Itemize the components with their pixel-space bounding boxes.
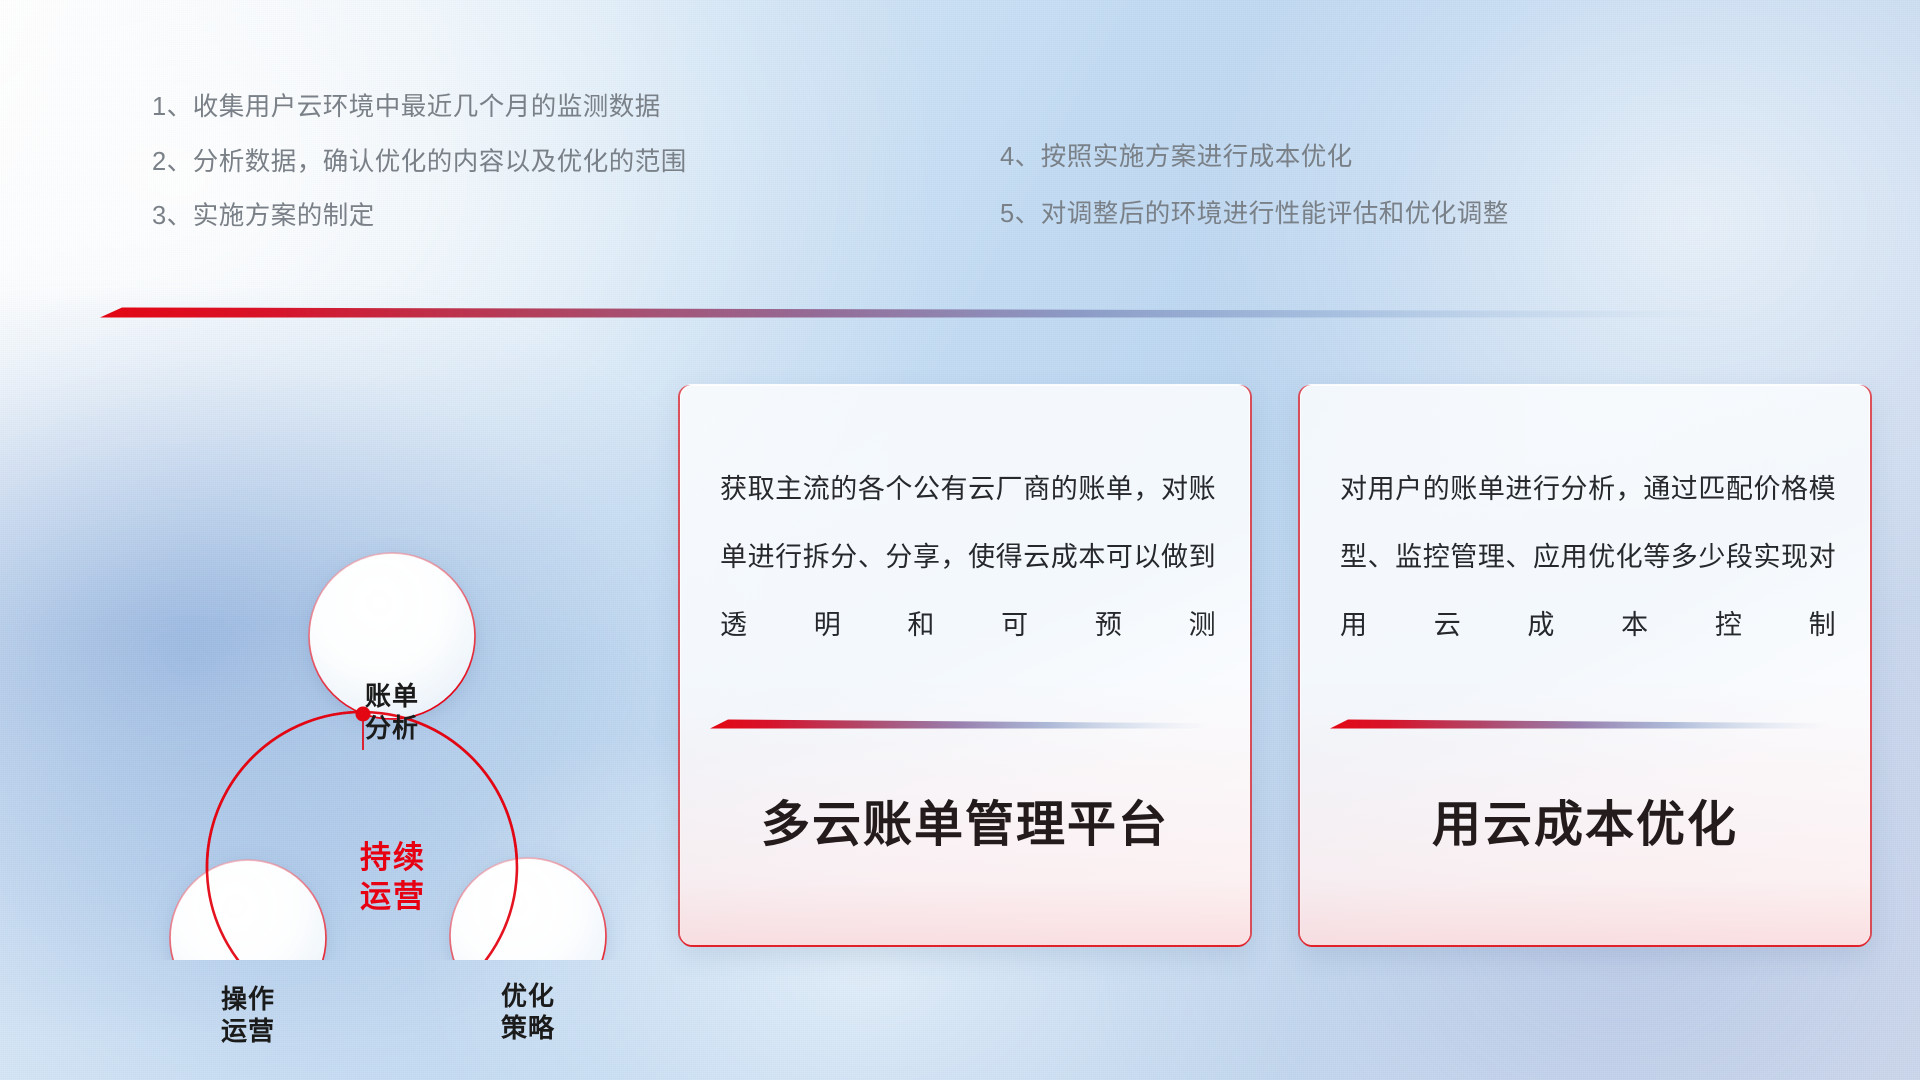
list-item: 3、 实施方案的制定 xyxy=(152,204,852,230)
list-item: 1、 收集用户云环境中最近几个月的监测数据 xyxy=(152,95,852,121)
list-item-number: 3、 xyxy=(152,204,193,230)
list-item: 5、 对调整后的环境进行性能评估和优化调整 xyxy=(1000,202,1740,228)
card-body-text: 获取主流的各个公有云厂商的账单，对账单进行拆分、分享，使得云成本可以做到透明和可… xyxy=(720,455,1216,659)
tapered-rule xyxy=(710,715,1210,729)
node-circle-strategy xyxy=(450,858,606,960)
node-label-operations: 操作 运营 xyxy=(183,984,313,1047)
node-label-line-1: 优化 xyxy=(463,981,593,1013)
tapered-rule xyxy=(1330,715,1830,729)
list-item: 2、 分析数据，确认优化的内容以及优化的范围 xyxy=(152,150,852,176)
node-label-line-2: 策略 xyxy=(463,1013,593,1045)
list-item: 4、 按照实施方案进行成本优化 xyxy=(1000,145,1740,171)
card-title: 用云成本优化 xyxy=(1300,785,1870,856)
process-steps-left-column: 1、 收集用户云环境中最近几个月的监测数据 2、 分析数据，确认优化的内容以及优… xyxy=(152,95,852,259)
list-item-text: 收集用户云环境中最近几个月的监测数据 xyxy=(193,95,661,121)
list-item-text: 按照实施方案进行成本优化 xyxy=(1041,145,1353,171)
list-item-number: 2、 xyxy=(152,150,193,176)
list-item-number: 1、 xyxy=(152,95,193,121)
feature-card-multi-cloud-billing-platform[interactable]: 获取主流的各个公有云厂商的账单，对账单进行拆分、分享，使得云成本可以做到透明和可… xyxy=(680,385,1250,945)
card-title: 多云账单管理平台 xyxy=(680,785,1250,856)
feature-card-cloud-cost-optimization[interactable]: 对用户的账单进行分析，通过匹配价格模型、监控管理、应用优化等多少段实现对用云成本… xyxy=(1300,385,1870,945)
continuous-operation-diagram: 账单 分析 操作 运营 优化 策略 持续 运营 xyxy=(80,350,640,960)
section-divider xyxy=(100,302,1740,318)
list-item-number: 4、 xyxy=(1000,145,1041,171)
diagram-center-label: 持续 运营 xyxy=(318,839,468,917)
node-circle-operations xyxy=(170,860,326,960)
diagram-center-label-line-2: 运营 xyxy=(318,878,468,917)
node-circle-bill-analysis xyxy=(309,553,475,719)
connector-dot-top xyxy=(356,707,371,722)
node-label-line-1: 操作 xyxy=(183,984,313,1016)
list-item-number: 5、 xyxy=(1000,202,1041,228)
process-steps-right-column: 4、 按照实施方案进行成本优化 5、 对调整后的环境进行性能评估和优化调整 xyxy=(1000,145,1740,258)
card-divider xyxy=(1330,715,1830,729)
card-divider xyxy=(710,715,1210,729)
node-label-line-2: 运营 xyxy=(183,1016,313,1048)
tapered-rule xyxy=(100,302,1740,318)
list-item-text: 分析数据，确认优化的内容以及优化的范围 xyxy=(193,150,687,176)
slide-stage: 1、 收集用户云环境中最近几个月的监测数据 2、 分析数据，确认优化的内容以及优… xyxy=(0,0,1920,1080)
node-label-strategy: 优化 策略 xyxy=(463,981,593,1044)
card-body-text: 对用户的账单进行分析，通过匹配价格模型、监控管理、应用优化等多少段实现对用云成本… xyxy=(1340,455,1836,659)
diagram-center-label-line-1: 持续 xyxy=(318,839,468,878)
list-item-text: 实施方案的制定 xyxy=(193,204,375,230)
list-item-text: 对调整后的环境进行性能评估和优化调整 xyxy=(1041,202,1509,228)
